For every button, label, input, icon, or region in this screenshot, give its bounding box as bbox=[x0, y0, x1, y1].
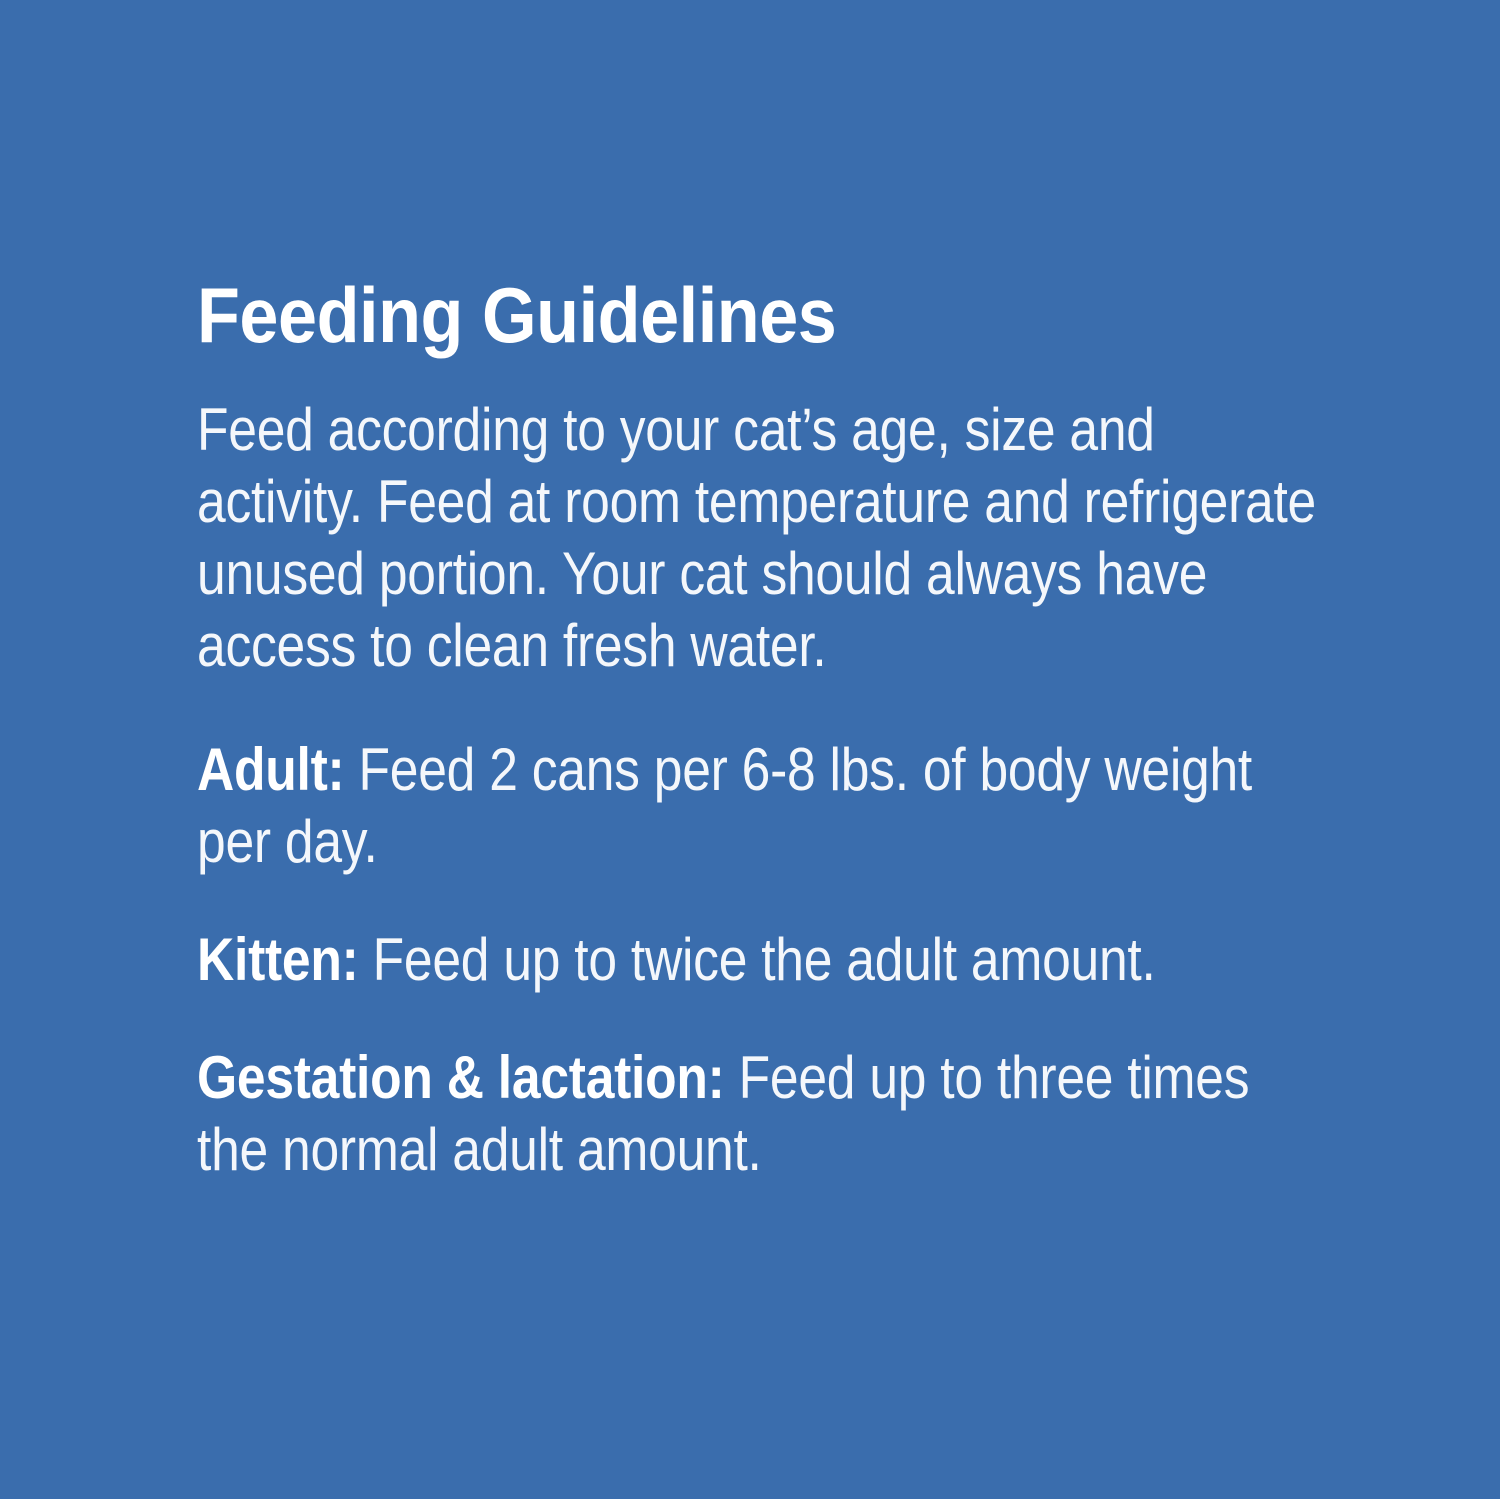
page-title: Feeding Guidelines bbox=[197, 272, 1214, 358]
guideline-kitten-label: Kitten: bbox=[197, 926, 359, 993]
guideline-adult: Adult: Feed 2 cans per 6-8 lbs. of body … bbox=[197, 734, 1324, 878]
guideline-gestation-lactation-label: Gestation & lactation: bbox=[197, 1044, 725, 1111]
intro-paragraph: Feed according to your cat’s age, size a… bbox=[197, 394, 1324, 682]
guideline-kitten-text: Feed up to twice the adult amount. bbox=[373, 926, 1156, 993]
guideline-gestation-lactation: Gestation & lactation: Feed up to three … bbox=[197, 1042, 1324, 1186]
guideline-adult-text: Feed 2 cans per 6-8 lbs. of body weight … bbox=[197, 736, 1252, 875]
feeding-guidelines-panel: Feeding Guidelines Feed according to you… bbox=[0, 0, 1500, 1499]
guideline-adult-label: Adult: bbox=[197, 736, 344, 803]
content-column: Feeding Guidelines Feed according to you… bbox=[197, 272, 1327, 1186]
guideline-kitten: Kitten: Feed up to twice the adult amoun… bbox=[197, 924, 1324, 996]
